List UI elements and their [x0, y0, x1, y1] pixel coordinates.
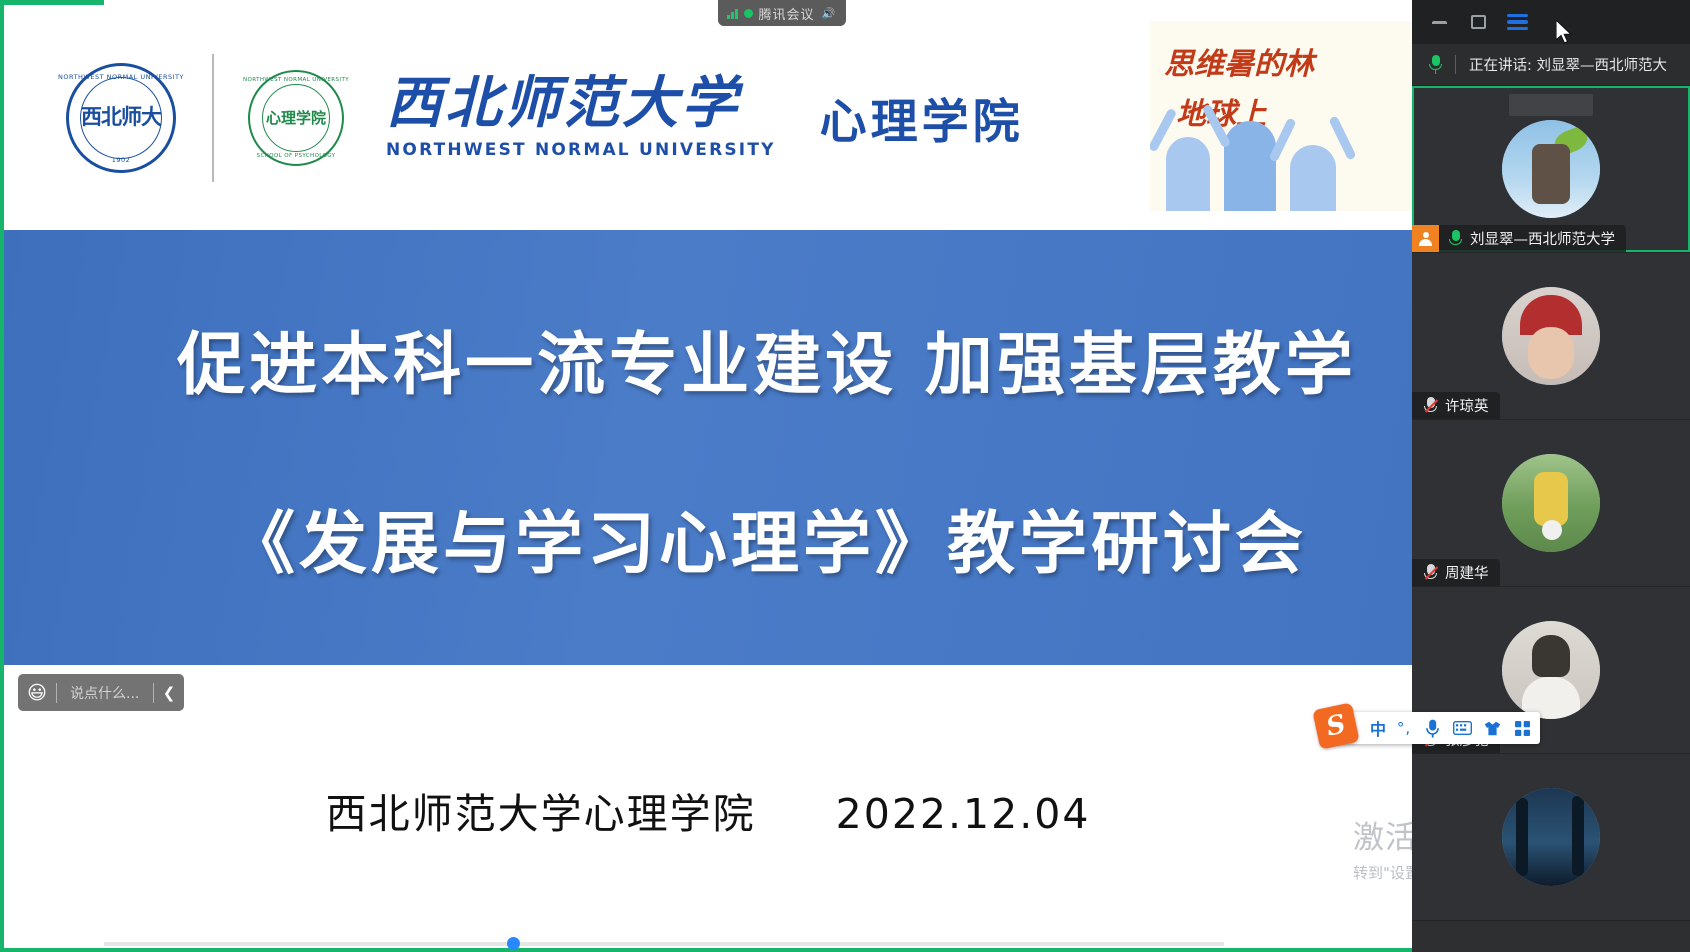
participant-name: 刘显翠—西北师范大学 [1470, 228, 1615, 249]
meeting-status-pill[interactable]: 腾讯会议 🔊 [718, 0, 846, 26]
participant-name-row: 周建华 [1412, 559, 1500, 586]
silhouette-figure [1224, 121, 1276, 211]
apps-grid-icon[interactable] [1507, 721, 1537, 736]
avatar [1502, 120, 1600, 218]
slide-progress-bar[interactable] [104, 942, 1224, 946]
tile-top-strip [1509, 94, 1593, 116]
psychology-school-seal-icon: NORTHWEST NORMAL UNIVERSITY 心理学院 SCHOOL … [248, 70, 344, 166]
slide-footer-date: 2022.12.04 [836, 790, 1091, 838]
avatar [1502, 287, 1600, 385]
participant-tile[interactable]: 刘显翠—西北师范大学 [1412, 86, 1690, 253]
participant-name: 周建华 [1445, 562, 1489, 583]
university-seal-ring-top: NORTHWEST NORMAL UNIVERSITY [58, 73, 184, 81]
speaker-icon[interactable]: 🔊 [822, 7, 836, 20]
shared-screen-region[interactable]: NORTHWEST NORMAL UNIVERSITY 西北师大 1902 NO… [0, 0, 1412, 952]
active-speaker-banner: 正在讲话: 刘显翠—西北师范大 [1412, 44, 1690, 86]
participant-name: 许琼英 [1445, 395, 1489, 416]
keyboard-icon[interactable] [1447, 721, 1477, 735]
banner-artwork: 思维暑的林 地球上 [1150, 21, 1412, 211]
meeting-app-name: 腾讯会议 [759, 4, 815, 23]
app-root: NORTHWEST NORMAL UNIVERSITY 西北师大 1902 NO… [0, 0, 1690, 952]
brand-name-en: NORTHWEST NORMAL UNIVERSITY [386, 140, 776, 160]
slide-footer-org: 西北师范大学心理学院 [326, 790, 756, 838]
slide-title-line-2: 《发展与学习心理学》教学研讨会 [227, 488, 1307, 587]
department-name: 心理学院 [820, 83, 1024, 152]
silhouette-figure [1290, 145, 1336, 211]
speaking-divider [1455, 55, 1456, 74]
chat-input-placeholder[interactable]: 说点什么... [57, 683, 153, 703]
microphone-on-icon [1449, 229, 1462, 248]
avatar [1502, 788, 1600, 886]
microphone-muted-icon [1424, 396, 1437, 415]
share-border-bottom [0, 948, 1412, 952]
host-person-icon [1412, 225, 1439, 252]
university-seal-text: 西北师大 [80, 77, 162, 159]
banner-divider [212, 54, 214, 182]
slide-progress-handle[interactable] [507, 937, 520, 950]
hamburger-menu-icon[interactable] [1508, 13, 1526, 31]
microphone-muted-icon [1424, 563, 1437, 582]
avatar [1502, 454, 1600, 552]
slide-body: 促进本科一流专业建设 加强基层教学 《发展与学习心理学》教学研讨会 [4, 230, 1412, 665]
participant-tile[interactable]: 周建华 [1412, 420, 1690, 587]
avatar [1502, 621, 1600, 719]
slide-footer-text: 西北师范大学心理学院 2022.12.04 [4, 780, 1412, 840]
recording-dot-icon [744, 9, 753, 18]
brand-block: 西北师范大学 NORTHWEST NORMAL UNIVERSITY [386, 75, 776, 160]
sidebar-titlebar [1412, 0, 1690, 44]
participant-name-row: 刘显翠—西北师范大学 [1412, 225, 1626, 252]
silhouette-figure [1166, 137, 1210, 211]
brand-name-cn: 西北师范大学 [386, 75, 776, 131]
skin-shirt-icon[interactable] [1477, 721, 1507, 736]
slide-footer: 西北师范大学心理学院 2022.12.04 [4, 665, 1412, 948]
university-seal-icon: NORTHWEST NORMAL UNIVERSITY 西北师大 1902 [66, 63, 176, 173]
school-seal-ring-bottom: SCHOOL OF PSYCHOLOGY [257, 153, 336, 159]
calligraphy-line-1: 思维暑的林 [1164, 39, 1314, 83]
active-speaker-text: 正在讲话: 刘显翠—西北师范大 [1469, 54, 1667, 75]
participant-tile[interactable] [1412, 754, 1690, 921]
participants-sidebar: 正在讲话: 刘显翠—西北师范大 刘显翠—西北师范大学 [1412, 0, 1690, 952]
sogou-logo-icon[interactable]: S [1312, 702, 1359, 749]
maximize-icon[interactable] [1469, 13, 1487, 31]
signal-bars-icon [727, 8, 738, 19]
slide-title-line-1: 促进本科一流专业建设 加强基层教学 [177, 309, 1357, 408]
participant-name-row: 许琼英 [1412, 392, 1500, 419]
ime-language-mode[interactable]: 中 [1365, 716, 1391, 740]
university-seal-ring-bottom: 1902 [112, 156, 131, 164]
sogou-ime-toolbar[interactable]: S 中 °, [1337, 712, 1540, 744]
chevron-left-icon[interactable]: ❮ [154, 684, 184, 702]
chat-input-bar[interactable]: 😃 说点什么... ❮ [18, 674, 184, 711]
minimize-icon[interactable] [1430, 13, 1448, 31]
microphone-icon[interactable] [1417, 719, 1447, 738]
participant-tile[interactable]: 许琼英 [1412, 253, 1690, 420]
microphone-active-icon [1429, 55, 1442, 74]
school-seal-text: 心理学院 [262, 84, 330, 152]
ime-punctuation-toggle[interactable]: °, [1391, 719, 1417, 737]
slide-banner: NORTHWEST NORMAL UNIVERSITY 西北师大 1902 NO… [4, 5, 1412, 230]
school-seal-ring-top: NORTHWEST NORMAL UNIVERSITY [243, 77, 349, 83]
emoji-icon[interactable]: 😃 [18, 682, 56, 704]
silhouette-arm [1328, 115, 1356, 160]
